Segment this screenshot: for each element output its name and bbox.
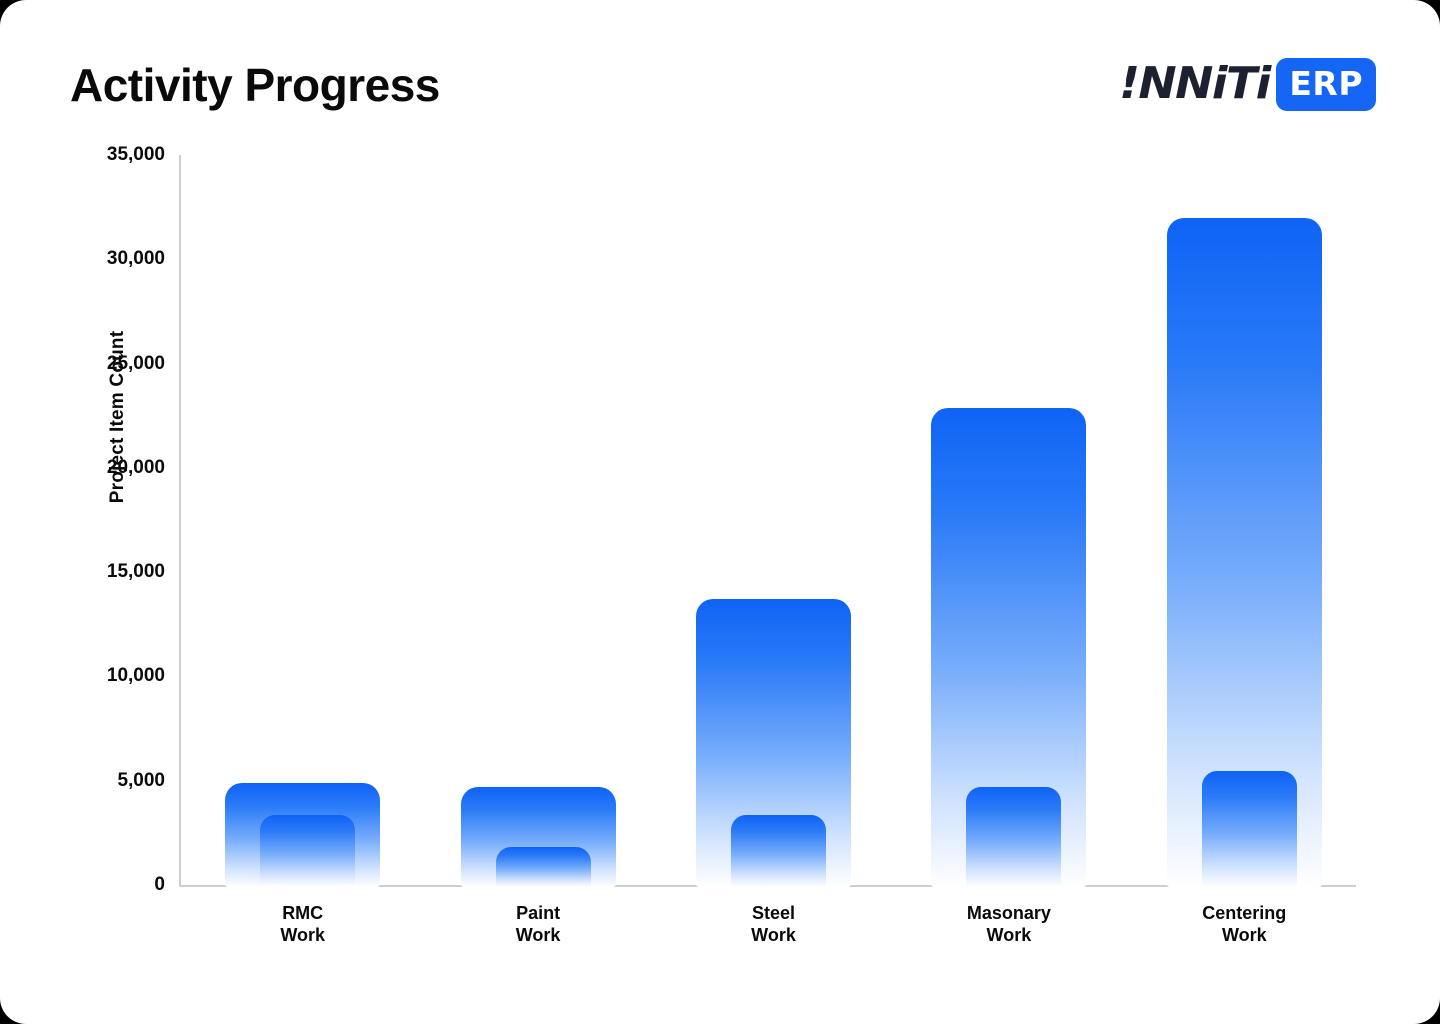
y-axis-tick-label: 5,000 [45, 770, 165, 792]
x-axis-tick-label: PaintWork [428, 903, 648, 947]
y-axis-tick-label: 35,000 [45, 144, 165, 166]
x-axis-tick-label-line: Work [664, 925, 884, 947]
x-axis-tick-label-line: RMC [193, 903, 413, 925]
x-axis-tick-label-line: Work [899, 925, 1119, 947]
x-axis-tick-label: CenteringWork [1134, 903, 1354, 947]
y-axis-tick-labels: 05,00010,00015,00020,00025,00030,00035,0… [45, 0, 165, 1024]
x-axis-tick-label-line: Work [1134, 925, 1354, 947]
bar-group [696, 155, 851, 887]
bar-completed[interactable] [260, 815, 355, 887]
bar-completed[interactable] [966, 787, 1061, 887]
y-axis-tick-label: 30,000 [45, 248, 165, 270]
y-axis-tick-label: 15,000 [45, 561, 165, 583]
chart-card: Activity Progress !NNiTi ERP Project Ite… [0, 0, 1440, 1024]
brand-wordmark: !NNiTi [1120, 62, 1271, 106]
brand-logo: !NNiTi ERP [1122, 58, 1376, 110]
y-axis-tick-label: 10,000 [45, 665, 165, 687]
x-axis-tick-label-line: Masonary [899, 903, 1119, 925]
x-axis-tick-label: SteelWork [664, 903, 884, 947]
x-axis-tick-label-line: Paint [428, 903, 648, 925]
x-axis-tick-label: MasonaryWork [899, 903, 1119, 947]
x-axis-tick-label-line: Steel [664, 903, 884, 925]
plot-area [179, 155, 1356, 887]
bar-completed[interactable] [496, 847, 591, 887]
x-axis-tick-label: RMCWork [193, 903, 413, 947]
brand-erp-badge: ERP [1276, 58, 1376, 111]
x-axis-tick-label-line: Work [428, 925, 648, 947]
bar-group [931, 155, 1086, 887]
bar-group [461, 155, 616, 887]
x-axis-tick-label-line: Centering [1134, 903, 1354, 925]
y-axis-tick-label: 20,000 [45, 457, 165, 479]
bar-completed[interactable] [731, 815, 826, 887]
bar-completed[interactable] [1202, 771, 1297, 887]
x-axis-tick-label-line: Work [193, 925, 413, 947]
y-axis-tick-label: 0 [45, 874, 165, 896]
bar-group [225, 155, 380, 887]
bar-group [1167, 155, 1322, 887]
y-axis-tick-label: 25,000 [45, 353, 165, 375]
